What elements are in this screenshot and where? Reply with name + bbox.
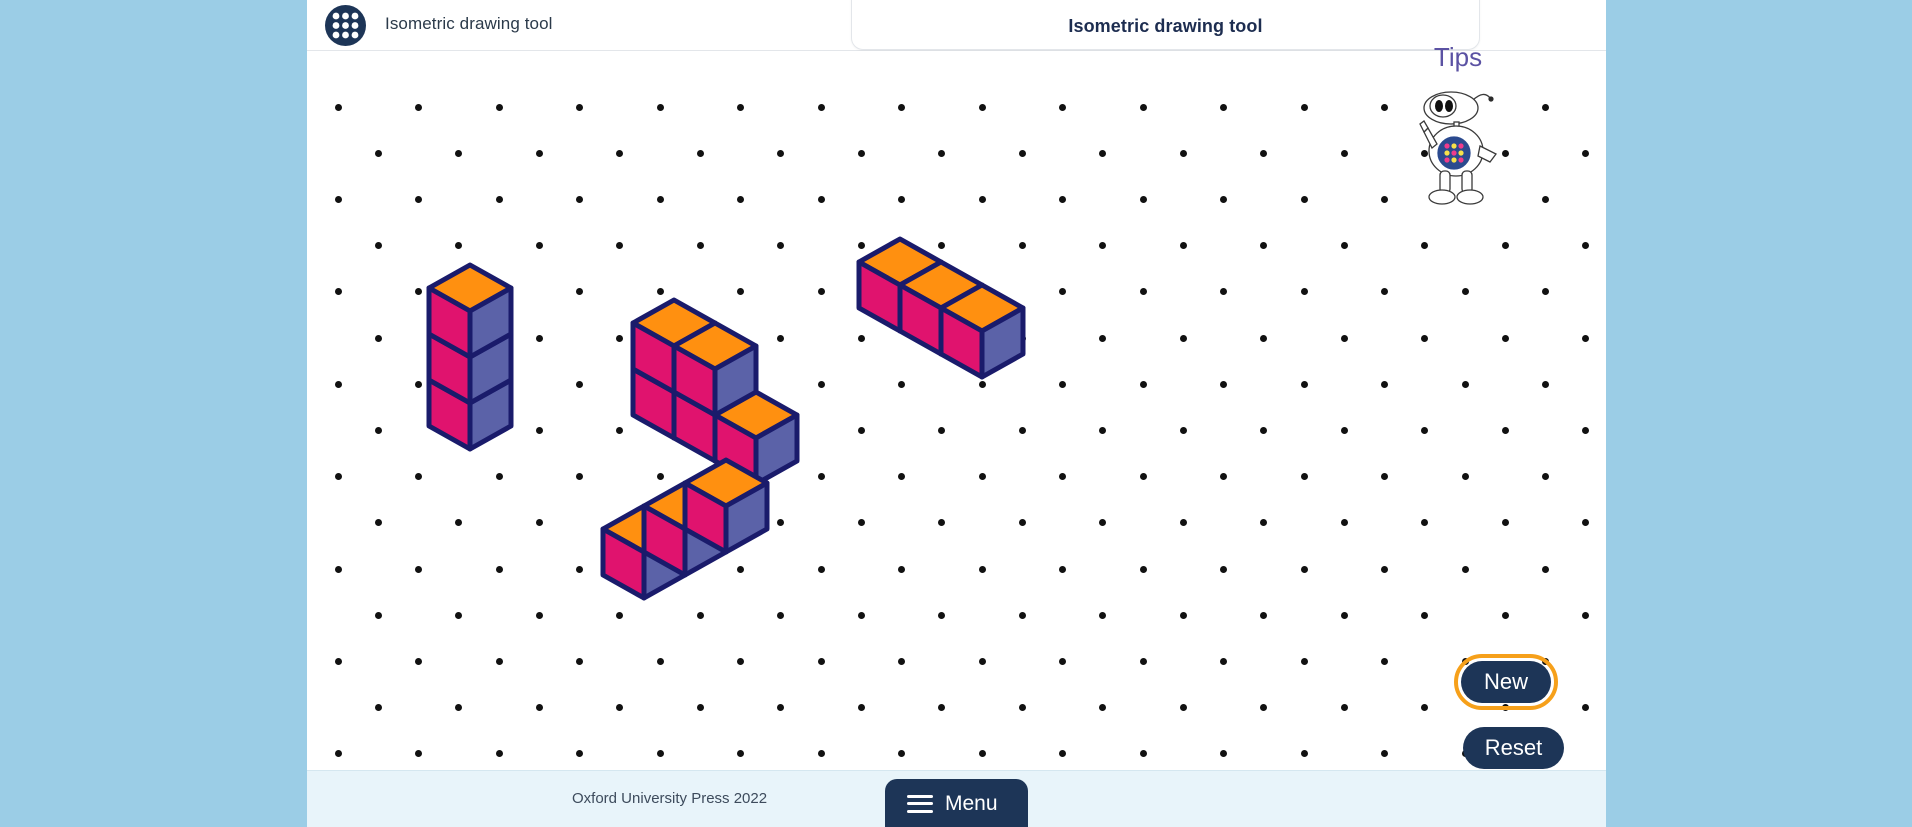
grid-dot — [657, 750, 664, 757]
footer: Oxford University Press 2022 Menu — [307, 770, 1606, 827]
grid-dot — [1341, 704, 1348, 711]
grid-dot — [536, 612, 543, 619]
cube-right-face — [982, 308, 1023, 377]
grid-dot — [375, 150, 382, 157]
cube — [633, 300, 715, 392]
cube-top-face — [644, 483, 726, 529]
grid-dot — [1502, 427, 1509, 434]
grid-dot — [616, 242, 623, 249]
grid-dot — [1502, 704, 1509, 711]
cube-left-face — [603, 529, 644, 598]
cube-right-face — [674, 369, 715, 438]
cube-top-face — [715, 392, 797, 438]
cube — [644, 483, 726, 575]
grid-dot — [858, 612, 865, 619]
reset-button[interactable]: Reset — [1463, 727, 1564, 769]
grid-dot — [536, 335, 543, 342]
grid-dot — [415, 473, 422, 480]
grid-dot — [1220, 658, 1227, 665]
grid-dot — [858, 335, 865, 342]
grid-dot — [1180, 242, 1187, 249]
grid-dot — [1341, 242, 1348, 249]
grid-dot — [455, 150, 462, 157]
grid-dot — [375, 519, 382, 526]
cube — [633, 346, 715, 438]
grid-dot — [737, 288, 744, 295]
grid-dot — [1180, 704, 1187, 711]
cube-left-face — [674, 346, 715, 415]
grid-dot — [576, 196, 583, 203]
grid-dot — [858, 242, 865, 249]
cube-left-face — [644, 506, 685, 575]
grid-dot — [1059, 566, 1066, 573]
grid-dot — [1220, 288, 1227, 295]
grid-dot — [1220, 566, 1227, 573]
grid-dot — [697, 427, 704, 434]
grid-dot — [898, 381, 905, 388]
grid-dot — [1019, 612, 1026, 619]
grid-dot — [536, 242, 543, 249]
grid-dot — [1582, 242, 1589, 249]
cube-shape-receding-row[interactable] — [603, 460, 767, 598]
cube-top-face — [674, 369, 756, 415]
grid-dot — [737, 196, 744, 203]
cube-shape-staircase-block[interactable] — [633, 300, 797, 484]
grid-dot — [1260, 427, 1267, 434]
cube-left-face — [429, 334, 470, 403]
cube — [685, 460, 767, 552]
grid-dot — [496, 473, 503, 480]
grid-dot — [697, 612, 704, 619]
grid-dot — [938, 612, 945, 619]
grid-dot — [1462, 381, 1469, 388]
grid-dot — [979, 288, 986, 295]
cube-right-face — [941, 285, 982, 354]
grid-dot — [657, 473, 664, 480]
grid-dot — [335, 104, 342, 111]
menu-button-label: Menu — [945, 792, 998, 816]
grid-dot — [777, 704, 784, 711]
grid-dot — [496, 381, 503, 388]
cube-left-face — [941, 308, 982, 377]
grid-dot — [938, 242, 945, 249]
grid-dot — [335, 473, 342, 480]
grid-dot — [1301, 196, 1308, 203]
grid-dot — [536, 704, 543, 711]
grid-dot — [1341, 335, 1348, 342]
cube-shape-descending-diagonal-row[interactable] — [859, 239, 1023, 377]
grid-dot — [1059, 658, 1066, 665]
cube-top-face — [859, 239, 941, 285]
grid-dot — [818, 750, 825, 757]
cube-right-face — [685, 506, 726, 575]
grid-dot — [415, 104, 422, 111]
grid-dot — [1421, 335, 1428, 342]
grid-dot — [1502, 612, 1509, 619]
cube-left-face — [633, 323, 674, 392]
grid-dot — [898, 196, 905, 203]
grid-dot — [1059, 104, 1066, 111]
grid-dot — [818, 473, 825, 480]
menu-button[interactable]: Menu — [885, 779, 1028, 827]
grid-dot — [1381, 196, 1388, 203]
grid-dot — [576, 288, 583, 295]
grid-dot — [777, 335, 784, 342]
grid-dot — [1421, 612, 1428, 619]
grid-dot — [1542, 566, 1549, 573]
cube — [429, 311, 511, 403]
grid-dot — [1099, 242, 1106, 249]
grid-dot — [536, 519, 543, 526]
grid-dot — [1260, 335, 1267, 342]
cube-top-face — [429, 311, 511, 357]
cube — [429, 357, 511, 449]
cube-left-face — [633, 369, 674, 438]
grid-dot — [657, 104, 664, 111]
grid-dot — [335, 750, 342, 757]
cube-right-face — [644, 529, 685, 598]
grid-dot — [777, 242, 784, 249]
cube — [674, 323, 756, 415]
grid-dot — [455, 519, 462, 526]
grid-dot — [335, 566, 342, 573]
grid-dot — [1180, 519, 1187, 526]
grid-dot — [335, 288, 342, 295]
grid-dot — [1099, 519, 1106, 526]
footer-copyright: Oxford University Press 2022 — [572, 790, 767, 807]
grid-dot — [1542, 196, 1549, 203]
grid-dot — [1462, 473, 1469, 480]
title-card: Isometric drawing tool — [851, 0, 1480, 50]
grid-dot — [1019, 519, 1026, 526]
grid-dot — [1381, 104, 1388, 111]
grid-dot — [1582, 427, 1589, 434]
grid-dot — [616, 519, 623, 526]
grid-dot — [1140, 473, 1147, 480]
grid-dot — [1260, 150, 1267, 157]
grid-dot — [818, 288, 825, 295]
grid-dot — [1421, 242, 1428, 249]
grid-dot — [938, 335, 945, 342]
grid-dot — [1542, 288, 1549, 295]
grid-dot — [616, 704, 623, 711]
grid-dot — [496, 196, 503, 203]
grid-dot — [1542, 381, 1549, 388]
grid-dot — [536, 150, 543, 157]
cube-left-face — [429, 288, 470, 357]
grid-dot — [1260, 612, 1267, 619]
cube-top-face — [674, 323, 756, 369]
grid-dot — [576, 566, 583, 573]
cube-right-face — [470, 288, 511, 357]
grid-dot — [818, 658, 825, 665]
grid-dot — [1301, 381, 1308, 388]
grid-dot — [375, 704, 382, 711]
grid-dot — [818, 104, 825, 111]
grid-dot — [1220, 104, 1227, 111]
cube-left-face — [674, 392, 715, 461]
grid-dot — [1582, 704, 1589, 711]
grid-dot — [1381, 288, 1388, 295]
grid-dot — [737, 566, 744, 573]
grid-dot — [777, 519, 784, 526]
grid-dot — [616, 150, 623, 157]
grid-dot — [938, 427, 945, 434]
grid-dot — [1180, 335, 1187, 342]
grid-dot — [818, 566, 825, 573]
grid-dot — [1220, 750, 1227, 757]
grid-dot — [415, 288, 422, 295]
grid-dot — [1140, 658, 1147, 665]
grid-dot — [858, 704, 865, 711]
grid-dot — [576, 658, 583, 665]
cube-left-face — [685, 483, 726, 552]
grid-dot — [1140, 381, 1147, 388]
grid-dot — [1421, 704, 1428, 711]
grid-dot — [616, 335, 623, 342]
grid-dot — [898, 750, 905, 757]
grid-dot — [1381, 473, 1388, 480]
cube-left-face — [859, 262, 900, 331]
grid-dot — [1099, 427, 1106, 434]
grid-dot — [455, 704, 462, 711]
grid-dot — [1220, 473, 1227, 480]
grid-dot — [616, 427, 623, 434]
grid-dot — [1140, 566, 1147, 573]
grid-dot — [1140, 196, 1147, 203]
grid-dot — [1301, 473, 1308, 480]
grid-dot — [898, 104, 905, 111]
grid-dot — [1582, 519, 1589, 526]
grid-dot — [415, 196, 422, 203]
grid-dot — [657, 566, 664, 573]
grid-dot — [657, 658, 664, 665]
grid-dot — [1019, 335, 1026, 342]
topbar-title: Isometric drawing tool — [385, 14, 553, 34]
grid-dot — [375, 612, 382, 619]
app-root: Isometric drawing tool Isometric drawing… — [0, 0, 1912, 827]
grid-dot — [1180, 150, 1187, 157]
grid-dot — [737, 658, 744, 665]
grid-dot — [1099, 704, 1106, 711]
grid-dot — [979, 196, 986, 203]
grid-dot — [496, 288, 503, 295]
grid-dot — [1502, 242, 1509, 249]
grid-dot — [1421, 519, 1428, 526]
cube-top-face — [603, 506, 685, 552]
grid-dot — [818, 381, 825, 388]
grid-dot — [1301, 658, 1308, 665]
grid-dot — [1542, 104, 1549, 111]
grid-dot — [737, 381, 744, 388]
grid-dot — [1059, 381, 1066, 388]
grid-dot — [536, 427, 543, 434]
cube — [941, 285, 1023, 377]
grid-dot — [1260, 242, 1267, 249]
grid-dot — [697, 335, 704, 342]
grid-dot — [1341, 150, 1348, 157]
grid-dot — [697, 519, 704, 526]
grid-dot — [335, 381, 342, 388]
grid-dot — [938, 704, 945, 711]
grid-dot — [1462, 288, 1469, 295]
grid-dot — [777, 612, 784, 619]
grid-dot — [1059, 473, 1066, 480]
grid-dot — [1059, 288, 1066, 295]
grid-dot — [737, 473, 744, 480]
cube-right-face — [470, 334, 511, 403]
grid-dots-icon[interactable] — [325, 5, 366, 46]
grid-dot — [335, 196, 342, 203]
grid-dot — [898, 288, 905, 295]
grid-dot — [657, 196, 664, 203]
cube-left-face — [429, 380, 470, 449]
grid-dot — [979, 473, 986, 480]
grid-dot — [1301, 288, 1308, 295]
grid-dot — [496, 750, 503, 757]
grid-dot — [1220, 196, 1227, 203]
grid-dot — [496, 658, 503, 665]
grid-dot — [1381, 658, 1388, 665]
new-button[interactable]: New — [1461, 661, 1551, 703]
grid-dot — [576, 104, 583, 111]
grid-dot — [576, 473, 583, 480]
grid-dot — [415, 381, 422, 388]
grid-dot — [1260, 519, 1267, 526]
grid-dot — [576, 750, 583, 757]
cube-right-face — [726, 483, 767, 552]
grid-dot — [1462, 658, 1469, 665]
grid-dot — [375, 335, 382, 342]
cube-right-face — [756, 415, 797, 484]
cube-right-face — [715, 346, 756, 415]
grid-dot — [1099, 150, 1106, 157]
cube-top-face — [900, 262, 982, 308]
grid-dot — [898, 566, 905, 573]
cube-right-face — [470, 380, 511, 449]
grid-dot — [657, 288, 664, 295]
grid-dot — [1140, 288, 1147, 295]
grid-dot — [979, 381, 986, 388]
grid-dot — [1099, 612, 1106, 619]
grid-dot — [1502, 519, 1509, 526]
grid-dot — [979, 566, 986, 573]
grid-dot — [1301, 104, 1308, 111]
grid-dot — [1019, 427, 1026, 434]
grid-dot — [697, 150, 704, 157]
grid-dot — [858, 519, 865, 526]
cube-right-face — [900, 262, 941, 331]
grid-dot — [938, 150, 945, 157]
grid-dot — [1059, 196, 1066, 203]
grid-dot — [1059, 750, 1066, 757]
grid-dot — [335, 658, 342, 665]
grid-dot — [1019, 150, 1026, 157]
grid-dot — [1019, 242, 1026, 249]
cube — [715, 392, 797, 484]
grid-dot — [1019, 704, 1026, 711]
grid-dot — [1582, 150, 1589, 157]
grid-dot — [375, 427, 382, 434]
grid-dot — [415, 750, 422, 757]
grid-dot — [1180, 427, 1187, 434]
grid-dot — [1301, 750, 1308, 757]
grid-dot — [1260, 704, 1267, 711]
grid-dot — [576, 381, 583, 388]
grid-dot — [455, 612, 462, 619]
grid-dot — [1381, 750, 1388, 757]
grid-dot — [1381, 381, 1388, 388]
grid-dot — [777, 150, 784, 157]
cube — [603, 506, 685, 598]
grid-dot — [1462, 566, 1469, 573]
grid-dot — [1220, 381, 1227, 388]
grid-dot — [697, 242, 704, 249]
grid-dot — [818, 196, 825, 203]
grid-dot — [1341, 427, 1348, 434]
grid-dot — [657, 381, 664, 388]
grid-dot — [1140, 104, 1147, 111]
grid-dot — [1341, 519, 1348, 526]
grid-dot — [1542, 473, 1549, 480]
grid-dot — [455, 335, 462, 342]
grid-dot — [898, 658, 905, 665]
grid-dot — [1301, 566, 1308, 573]
grid-dot — [697, 704, 704, 711]
grid-dot — [415, 658, 422, 665]
cube-right-face — [715, 392, 756, 461]
grid-dot — [938, 519, 945, 526]
grid-dot — [496, 566, 503, 573]
grid-dot — [1542, 658, 1549, 665]
grid-dot — [979, 658, 986, 665]
grid-dot — [1582, 335, 1589, 342]
grid-dot — [858, 427, 865, 434]
grid-dot — [455, 242, 462, 249]
grid-dot — [415, 566, 422, 573]
cube-right-face — [674, 323, 715, 392]
grid-dot — [1502, 335, 1509, 342]
cube — [429, 265, 511, 357]
cube-top-face — [633, 346, 715, 392]
grid-dot — [1381, 566, 1388, 573]
grid-dot — [616, 612, 623, 619]
grid-dot — [858, 150, 865, 157]
cube — [859, 239, 941, 331]
page-title: Isometric drawing tool — [852, 16, 1479, 37]
grid-dot — [737, 750, 744, 757]
cube-left-face — [900, 285, 941, 354]
grid-dot — [1180, 612, 1187, 619]
grid-dot — [455, 427, 462, 434]
grid-dot — [1140, 750, 1147, 757]
grid-dot — [375, 242, 382, 249]
grid-dot — [898, 473, 905, 480]
grid-dot — [979, 104, 986, 111]
grid-dot — [777, 427, 784, 434]
grid-dot — [979, 750, 986, 757]
tips-panel[interactable]: Tips — [1398, 44, 1518, 206]
grid-dot — [1421, 427, 1428, 434]
grid-dot — [1341, 612, 1348, 619]
cube-left-face — [715, 415, 756, 484]
grid-dot — [737, 104, 744, 111]
tips-robot-icon — [1410, 76, 1506, 206]
grid-dot — [1582, 612, 1589, 619]
grid-dot — [1099, 335, 1106, 342]
hamburger-icon — [907, 795, 933, 813]
tips-label: Tips — [1398, 44, 1518, 70]
